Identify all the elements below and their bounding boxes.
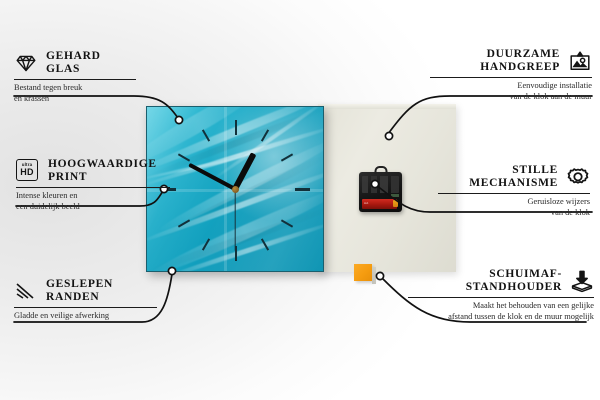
feature-header: SCHUIMAF- STANDHOUDER — [398, 268, 594, 294]
feature-divider — [16, 187, 170, 188]
feature-title: GESLEPEN RANDEN — [46, 278, 113, 304]
feature-description: Eenvoudige installatie van de klok aan d… — [406, 81, 592, 102]
battery-tip — [393, 200, 398, 207]
foam-spacer-side — [372, 267, 376, 284]
clock-tick-3 — [295, 188, 310, 191]
battery: AA — [362, 199, 397, 209]
clock-second-hand — [234, 189, 235, 251]
ultra-hd-icon-large-label: HD — [20, 168, 34, 177]
clock-tick-2 — [281, 153, 293, 161]
clock-tick-8 — [178, 219, 190, 227]
feature-header: GESLEPEN RANDEN — [14, 278, 192, 304]
feature-silent-mechanism[interactable]: STILLE MECHANISME Geruisloze wijzers van… — [410, 164, 590, 219]
foam-spacer-block — [354, 264, 372, 281]
feature-tempered-glass[interactable]: GEHARD GLAS Bestand tegen breuk en krass… — [14, 50, 189, 105]
clock-hour-hand — [232, 152, 256, 190]
feature-title: GEHARD GLAS — [46, 50, 101, 76]
feature-description: Gladde en veilige afwerking — [14, 311, 192, 322]
feature-divider — [438, 193, 590, 194]
feature-title: HOOGWAARDIGE PRINT — [48, 158, 157, 184]
feature-header: GEHARD GLAS — [14, 50, 189, 76]
bevelled-edges-icon — [14, 279, 38, 303]
clock-minute-hand — [188, 163, 236, 191]
movement-hanger-icon — [374, 166, 387, 174]
picture-frame-icon — [568, 49, 592, 73]
clock-tick-4 — [281, 219, 293, 227]
feature-ground-edges[interactable]: GESLEPEN RANDEN Gladde en veilige afwerk… — [14, 278, 192, 322]
feature-divider — [14, 307, 157, 308]
feature-header: DUURZAME HANDGREEP — [406, 48, 592, 74]
feature-title: STILLE MECHANISME — [469, 164, 558, 190]
diamond-icon — [14, 51, 38, 75]
feature-header: STILLE MECHANISME — [410, 164, 590, 190]
ultra-hd-icon: ultra HD — [16, 159, 40, 183]
feature-hd-print[interactable]: ultra HD HOOGWAARDIGE PRINT Intense kleu… — [16, 158, 188, 213]
feature-description: Maakt het behouden van een gelijke afsta… — [398, 301, 594, 322]
feature-title: DUURZAME HANDGREEP — [480, 48, 560, 74]
movement-label — [391, 194, 399, 197]
clock-tick-12 — [235, 120, 237, 135]
gear-icon — [566, 165, 590, 189]
connector-dot-foam — [376, 272, 383, 279]
product-infographic: AA — [0, 0, 600, 400]
arrow-down-pad-icon — [570, 269, 594, 293]
feature-divider — [14, 79, 136, 80]
feature-foam-spacer[interactable]: SCHUIMAF- STANDHOUDER Maakt het behouden… — [398, 268, 594, 323]
clock-tick-5 — [261, 238, 269, 250]
clock-tick-7 — [202, 238, 210, 250]
feature-durable-handle[interactable]: DUURZAME HANDGREEP Eenvoudige installati… — [406, 48, 592, 103]
battery-text: AA — [364, 201, 368, 205]
clock-tick-11 — [202, 129, 210, 141]
back-panel-top-edge — [318, 104, 456, 109]
clock-hand-cap — [232, 186, 239, 193]
feature-description: Intense kleuren en een duidelijk beeld — [16, 191, 188, 212]
feature-divider — [408, 297, 594, 298]
feature-divider — [430, 77, 592, 78]
movement-face-detail — [362, 176, 399, 193]
feature-header: ultra HD HOOGWAARDIGE PRINT — [16, 158, 188, 184]
feature-description: Bestand tegen breuk en krassen — [14, 83, 189, 104]
clock-movement: AA — [359, 172, 402, 212]
feature-description: Geruisloze wijzers van de klok — [410, 197, 590, 218]
feature-title: SCHUIMAF- STANDHOUDER — [466, 268, 562, 294]
clock-tick-1 — [261, 129, 269, 141]
